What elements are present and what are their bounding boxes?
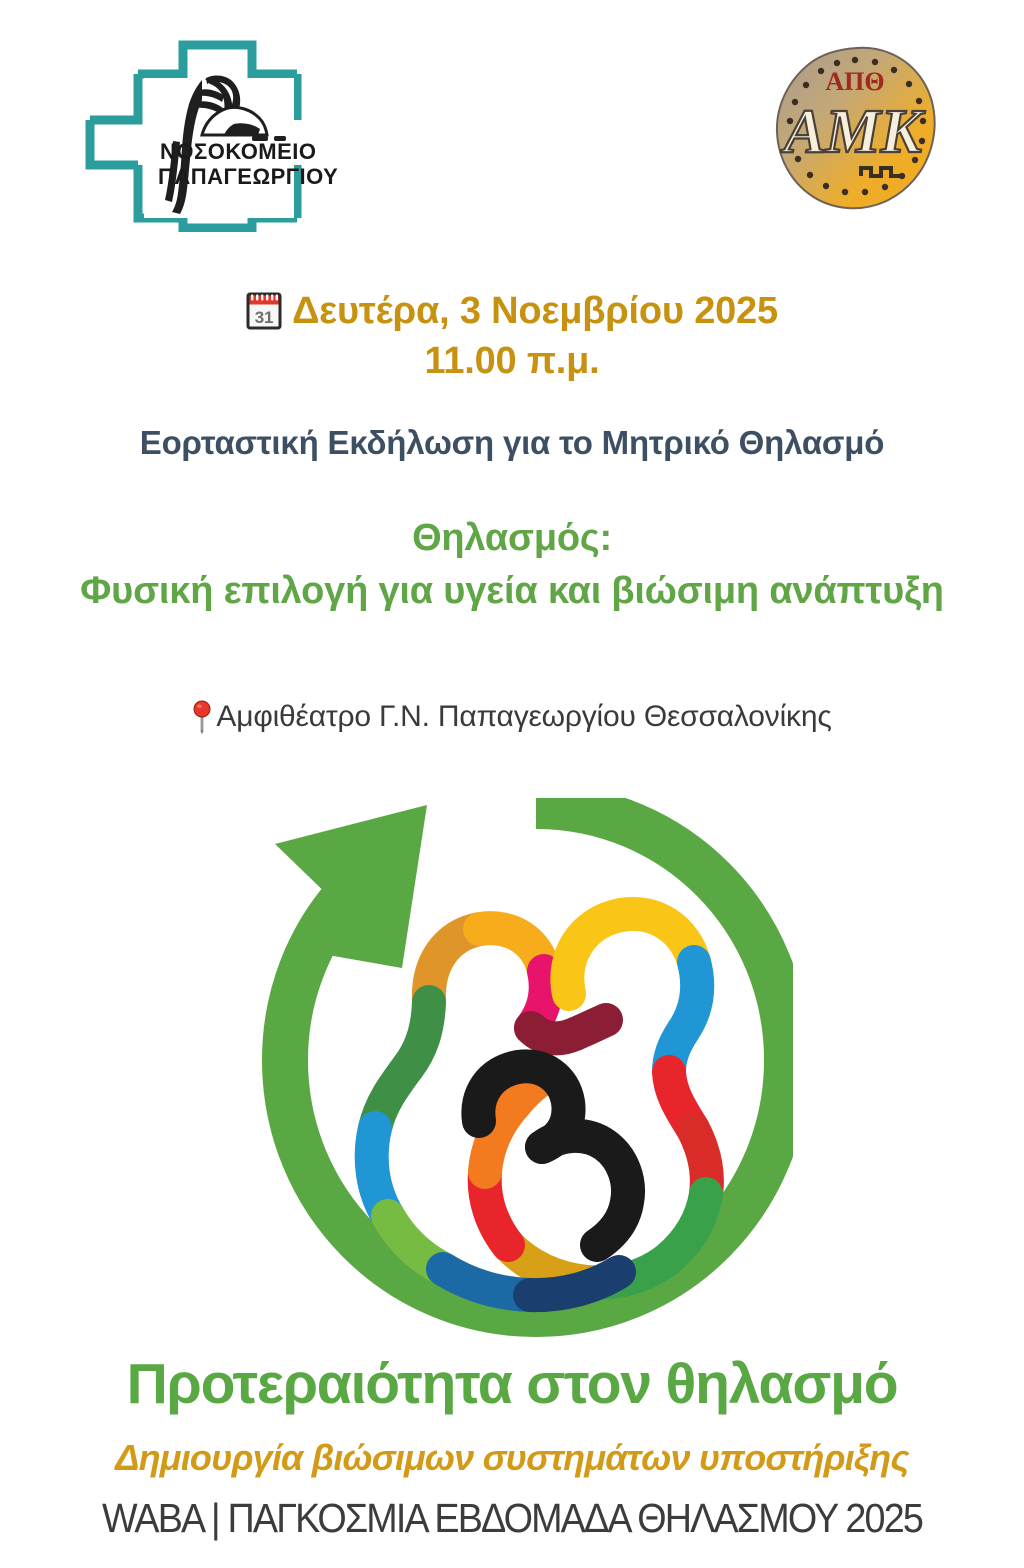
theme-line-2: Φυσική επιλογή για υγεία και βιώσιμη ανά… <box>0 565 1024 618</box>
hospital-cross-dove-icon: ΝΟΣΟΚΟΜΕΙΟ ΠΑΠΑΓΕΩΡΓΙΟΥ <box>52 32 352 232</box>
time-text: 11.00 π.μ. <box>0 336 1024 386</box>
waba-logo <box>231 798 793 1360</box>
venue-block: Αμφιθέατρο Γ.Ν. Παπαγεωργίου Θεσσαλονίκη… <box>0 700 1024 742</box>
calendar-day-label: 31 <box>255 308 274 327</box>
ancient-coin-emblem-icon: ΑΠΘ ΑΜΚ <box>765 40 945 220</box>
date-text: Δευτέρα, 3 Νοεμβρίου 2025 <box>292 286 778 336</box>
slogan-main: Προτεραιότητα στον θηλασμό <box>0 1356 1024 1413</box>
theme-line-1: Θηλασμός: <box>0 512 1024 565</box>
calendar-icon: 31 <box>246 292 282 330</box>
hospital-logo-line1: ΝΟΣΟΚΟΜΕΙΟ <box>160 139 317 164</box>
event-poster: ΝΟΣΟΚΟΜΕΙΟ ΠΑΠΑΓΕΩΡΓΙΟΥ <box>0 0 1024 1568</box>
mother-baby-outline <box>372 914 707 1295</box>
slogan-sub: Δημιουργία βιώσιμων συστημάτων υποστήριξ… <box>0 1440 1024 1476</box>
university-logo-top-text: ΑΠΘ <box>825 67 884 96</box>
event-title: Εορταστική Εκδήλωση για το Μητρικό Θηλασ… <box>0 424 1024 462</box>
date-line: 31 Δευτέρα, 3 Νοεμβρίου 2025 <box>0 286 1024 336</box>
map-pin-icon <box>192 700 212 734</box>
theme-block: Θηλασμός: Φυσική επιλογή για υγεία και β… <box>0 512 1024 618</box>
university-logo-main-text: ΑΜΚ <box>780 98 925 166</box>
waba-world-breastfeeding-week-icon <box>231 798 793 1360</box>
date-time-block: 31 Δευτέρα, 3 Νοεμβρίου 2025 11.00 π.μ. <box>0 286 1024 386</box>
slogan-waba-line: WABA | ΠΑΓΚΟΣΜΙΑ ΕΒΔΟΜΑΔΑ ΘΗΛΑΣΜΟΥ 2025 <box>41 1498 983 1539</box>
venue-inner: Αμφιθέατρο Γ.Ν. Παπαγεωργίου Θεσσαλονίκη… <box>192 700 831 734</box>
venue-text: Αμφιθέατρο Γ.Ν. Παπαγεωργίου Θεσσαλονίκη… <box>216 700 831 734</box>
university-logo: ΑΠΘ ΑΜΚ <box>765 40 945 220</box>
hospital-logo-line2: ΠΑΠΑΓΕΩΡΓΙΟΥ <box>158 164 338 189</box>
hospital-logo: ΝΟΣΟΚΟΜΕΙΟ ΠΑΠΑΓΕΩΡΓΙΟΥ <box>52 32 352 232</box>
logo-row: ΝΟΣΟΚΟΜΕΙΟ ΠΑΠΑΓΕΩΡΓΙΟΥ <box>0 0 1024 250</box>
